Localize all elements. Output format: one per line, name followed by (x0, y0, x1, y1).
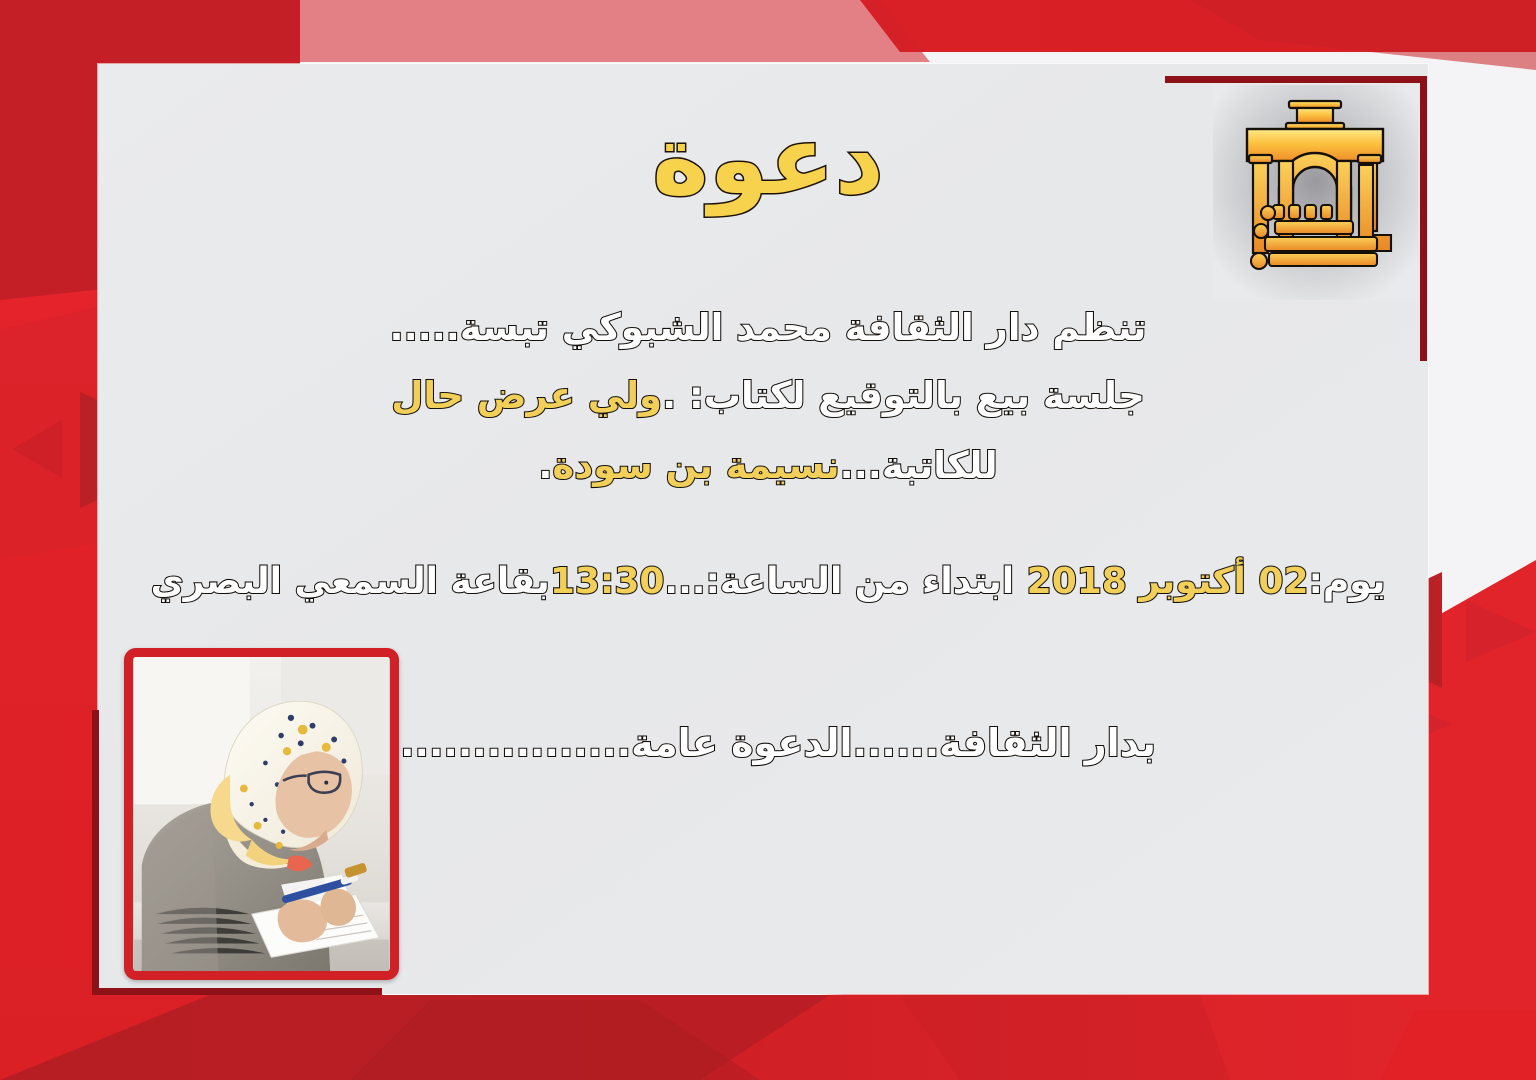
book-title: ولي عرض حال (391, 374, 662, 417)
author-suffix: . (538, 444, 552, 487)
organizer-line: تنظم دار الثقافة محمد الشبوكي تبسة..... (110, 300, 1426, 356)
author-name: نسيمة بن سودة (552, 444, 839, 487)
venue-text: بدار الثقافة......الدعوة عامة...........… (400, 721, 1156, 765)
venue-block: بدار الثقافة......الدعوة عامة...........… (320, 715, 1236, 785)
datetime-line: يوم:02 أكتوبر 2018 ابتداء من الساعة:...1… (60, 555, 1476, 610)
author-line: للكاتبة...نسيمة بن سودة. (110, 438, 1426, 494)
organizer-text: تنظم دار الثقافة محمد الشبوكي تبسة..... (390, 306, 1147, 349)
event-line: جلسة بيع بالتوقيع لكتاب: .ولي عرض حال (110, 368, 1426, 424)
venue-line: بدار الثقافة......الدعوة عامة...........… (320, 715, 1236, 773)
author-prefix: للكاتبة... (840, 444, 998, 487)
event-prefix: جلسة بيع بالتوقيع لكتاب: . (662, 374, 1145, 417)
author-photo (124, 648, 399, 980)
day-label: يوم: (1309, 561, 1386, 602)
page-title: دعوة (0, 110, 1536, 211)
event-time: 13:30 (550, 561, 665, 602)
invitation-poster: دعوة تنظم دار الثقافة محمد الشبوكي تبسة.… (0, 0, 1536, 1080)
venue-hall: بقاعة السمعي البصري (151, 561, 550, 602)
datetime-block: يوم:02 أكتوبر 2018 ابتداء من الساعة:...1… (60, 555, 1476, 610)
invitation-body: تنظم دار الثقافة محمد الشبوكي تبسة..... … (110, 300, 1426, 525)
event-date: 02 أكتوبر 2018 (1027, 561, 1309, 602)
time-label: ابتداء من الساعة:... (664, 561, 1026, 602)
